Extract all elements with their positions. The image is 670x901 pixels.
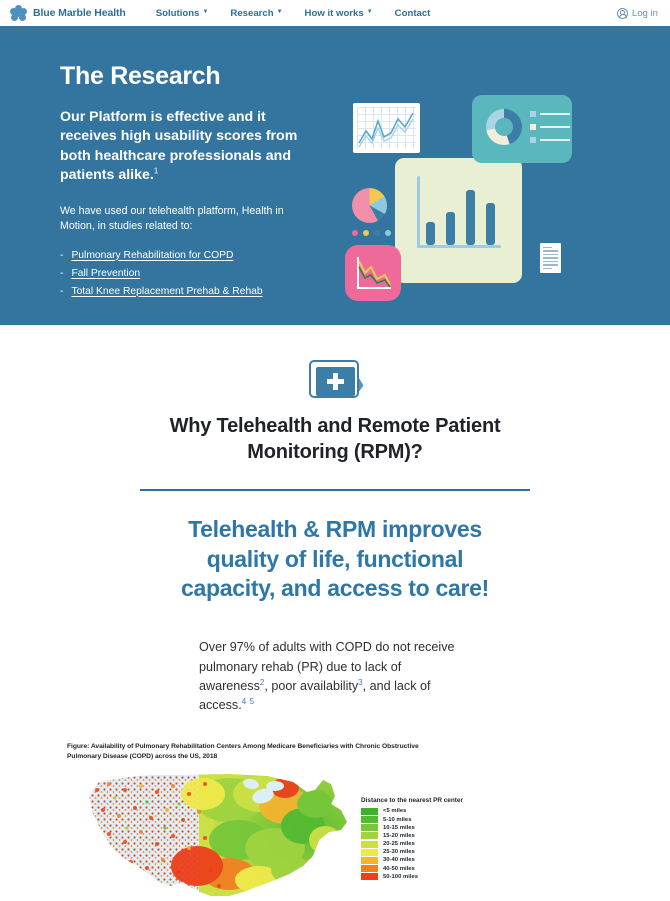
legend-dots-icon [352,230,391,236]
legend-item: 15-20 miles [361,832,463,839]
user-circle-icon [617,8,628,19]
hero-link-copd[interactable]: Pulmonary Rehabilitation for COPD [71,247,233,265]
bullet-dash: - [60,247,63,265]
legend-swatch [361,857,378,864]
section-blue-heading: Telehealth & RPM improves quality of lif… [170,515,500,605]
nav-item-how-it-works[interactable]: How it works ▼ [305,8,373,19]
reference-4: 4 [242,697,246,706]
legend-item: 20-25 miles [361,841,463,848]
legend-item: 50-100 miles [361,873,463,880]
legend-swatch [361,816,378,823]
nav-item-solutions[interactable]: Solutions ▼ [156,8,209,19]
brand-logo[interactable]: Blue Marble Health [10,5,126,22]
section-heading: Why Telehealth and Remote Patient Monito… [125,414,545,465]
figure-block: Figure: Availability of Pulmonary Rehabi… [65,742,605,900]
nav-item-contact[interactable]: Contact [395,8,431,19]
reference-5: 5 [250,697,254,706]
map-legend: Distance to the nearest PR center <5 mil… [361,770,463,881]
legend-item: 5-10 miles [361,816,463,823]
legend-swatch [361,824,378,831]
document-lines-icon [540,243,561,273]
legend-swatch [361,865,378,872]
marble-cluster-icon [10,5,27,22]
nav-item-research[interactable]: Research ▼ [230,8,282,19]
legend-label: 30-40 miles [383,857,415,863]
legend-item: <5 miles [361,808,463,815]
list-item: - Pulmonary Rehabilitation for COPD [60,247,320,265]
login-button[interactable]: Log in [617,8,658,19]
tablet-medical-plus-icon [307,359,364,399]
hero-subtitle-reference: 1 [154,167,158,176]
map-svg [79,770,357,900]
legend-item: 25-30 miles [361,849,463,856]
trend-down-card-icon [345,245,401,301]
donut-chart-card-icon [472,95,572,163]
bullet-dash: - [60,265,63,283]
hero-content: The Research Our Platform is effective a… [0,26,320,301]
legend-title: Distance to the nearest PR center [361,797,463,804]
bullet-dash: - [60,283,63,301]
legend-swatch [361,841,378,848]
nav-item-how-it-works-label: How it works [305,8,364,19]
pie-chart-icon [352,188,387,223]
legend-label: 25-30 miles [383,849,415,855]
nav-links: Solutions ▼ Research ▼ How it works ▼ Co… [156,8,431,19]
hero-link-fall-prevention[interactable]: Fall Prevention [71,265,140,283]
figure-caption: Figure: Availability of Pulmonary Rehabi… [67,742,442,761]
chevron-down-icon: ▼ [367,9,373,15]
telehealth-section: Why Telehealth and Remote Patient Monito… [0,325,670,900]
legend-swatch [361,873,378,880]
legend-swatch [361,808,378,815]
page-title: The Research [60,62,320,91]
nav-item-research-label: Research [230,8,273,19]
navbar: Blue Marble Health Solutions ▼ Research … [0,0,670,26]
hero-body-text: We have used our telehealth platform, He… [60,204,290,235]
hero-link-knee-replacement[interactable]: Total Knee Replacement Prehab & Rehab [71,283,262,301]
legend-label: 40-50 miles [383,866,415,872]
figure-body: Distance to the nearest PR center <5 mil… [67,770,605,900]
section-paragraph: Over 97% of adults with COPD do not rece… [199,638,471,715]
us-choropleth-map [79,770,357,900]
hero-subtitle-text: Our Platform is effective and it receive… [60,109,297,183]
legend-label: 20-25 miles [383,841,415,847]
nav-item-contact-label: Contact [395,8,431,19]
section-divider [140,489,530,491]
legend-label: 50-100 miles [383,874,418,880]
legend-item: 40-50 miles [361,865,463,872]
nav-item-solutions-label: Solutions [156,8,200,19]
login-label: Log in [632,8,658,19]
hero-study-links: - Pulmonary Rehabilitation for COPD - Fa… [60,247,320,301]
line-chart-card-icon [353,103,420,153]
bar-chart-document-icon [395,158,522,283]
chevron-down-icon: ▼ [277,9,283,15]
legend-item: 10-15 miles [361,824,463,831]
chevron-down-icon: ▼ [202,9,208,15]
brand-name: Blue Marble Health [33,7,126,19]
analytics-illustration [340,88,590,323]
list-item: - Fall Prevention [60,265,320,283]
legend-label: <5 miles [383,808,406,814]
legend-label: 15-20 miles [383,833,415,839]
legend-swatch [361,832,378,839]
list-item: - Total Knee Replacement Prehab & Rehab [60,283,320,301]
hero-subtitle: Our Platform is effective and it receive… [60,108,315,186]
legend-item: 30-40 miles [361,857,463,864]
legend-label: 10-15 miles [383,825,415,831]
hero-section: The Research Our Platform is effective a… [0,26,670,325]
paragraph-part-2: , poor availability [264,679,358,693]
legend-label: 5-10 miles [383,817,412,823]
legend-swatch [361,849,378,856]
